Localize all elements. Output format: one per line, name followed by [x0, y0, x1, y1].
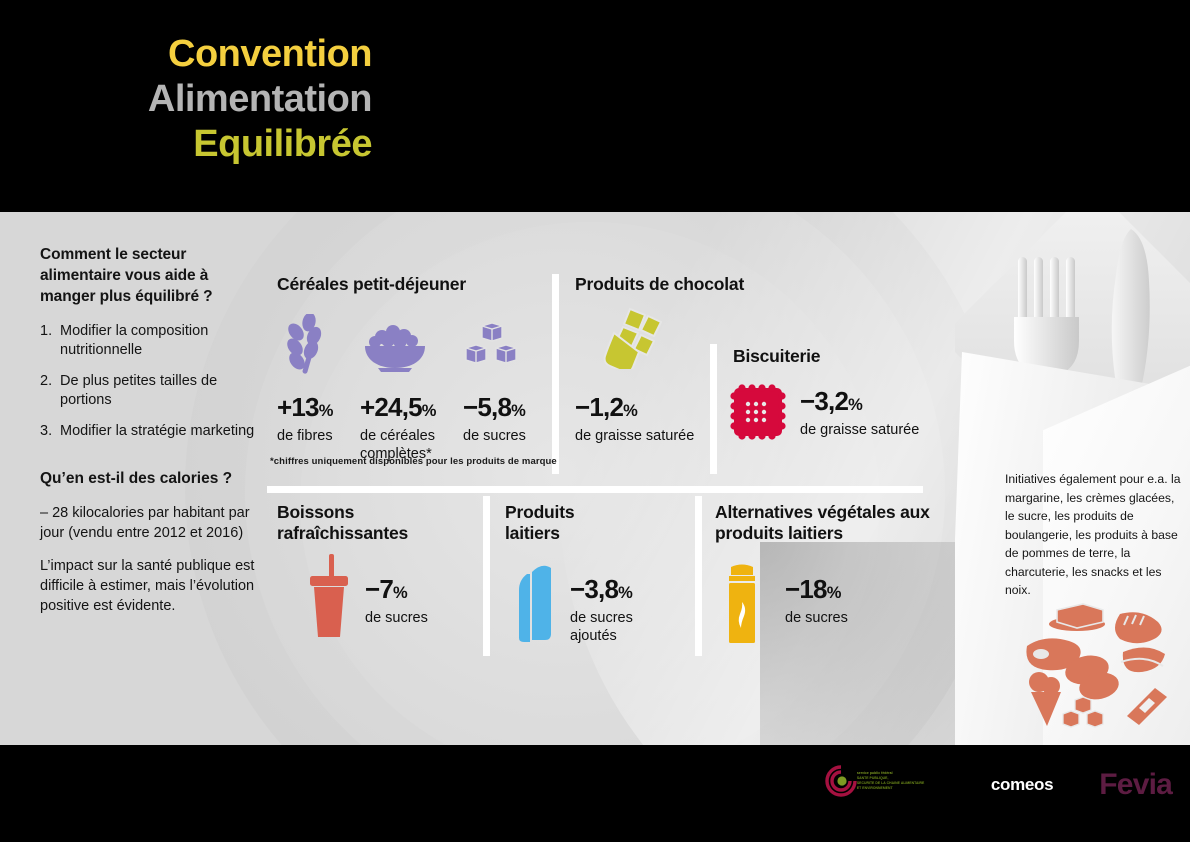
list-item: 2. De plus petites tailles de portions [40, 372, 255, 411]
stat-value: +24,5% [360, 392, 455, 423]
title-line-1: Convention [0, 34, 372, 75]
logo-belgian-government[interactable]: service public fédéral SANTE PUBLIQUE, S… [825, 765, 945, 805]
plant-drink-carton-icon [720, 564, 766, 649]
section-title-drinks: Boissons rafraîchissantes [277, 502, 467, 545]
butter-icon [1049, 604, 1105, 631]
stat-value: −3,2% [800, 386, 920, 417]
grid-divider-vertical [552, 274, 559, 474]
stat-cereals-fibre: +13% de fibres [277, 392, 333, 445]
list-item-number: 1. [40, 322, 60, 361]
list-item-number: 2. [40, 372, 60, 411]
list-item-number: 3. [40, 422, 60, 442]
list-item: 1. Modifier la composition nutritionnell… [40, 322, 255, 361]
right-sidebar: Initiatives également pour e.a. la marga… [955, 212, 1190, 745]
section-title-plant: Alternatives végétales aux produits lait… [715, 502, 945, 545]
gov-emblem-icon [825, 765, 857, 799]
left-paragraph-1: – 28 kilocalories par habitant par jour … [40, 503, 255, 543]
stat-value: −18% [785, 574, 848, 605]
stat-chocolate-fat: −1,2% de graisse saturée [575, 392, 695, 445]
stat-label: de sucres [463, 427, 526, 445]
footer-band: service public fédéral SANTE PUBLIQUE, S… [0, 745, 1190, 842]
stat-value: −5,8% [463, 392, 526, 423]
stat-cereals-wholegrain: +24,5% de céréales complètes* [360, 392, 455, 463]
stat-value: −7% [365, 574, 428, 605]
right-sidebar-text: Initiatives également pour e.a. la marga… [1005, 470, 1187, 600]
stat-label: de graisse saturée [575, 427, 695, 445]
stat-label: de sucres ajoutés [570, 609, 680, 645]
left-question-1: Comment le secteur alimentaire vous aide… [40, 245, 255, 308]
poster-title: Convention Alimentation Equilibrée [0, 34, 372, 165]
stat-label: de graisse saturée [800, 421, 920, 439]
footer-logos: service public fédéral SANTE PUBLIQUE, S… [825, 765, 1172, 805]
wheat-icon [280, 314, 338, 379]
left-sidebar: Comment le secteur alimentaire vous aide… [40, 245, 255, 616]
left-paragraph-2: L’impact sur la santé publique est diffi… [40, 556, 255, 616]
gov-line-4: ET ENVIRONNEMENT [857, 786, 945, 791]
stat-cereals-sugar: −5,8% de sucres [463, 392, 526, 445]
soft-drink-cup-icon [305, 554, 353, 644]
list-item-label: Modifier la stratégie marketing [60, 422, 254, 442]
list-item: 3. Modifier la stratégie marketing [40, 422, 255, 442]
list-item-label: Modifier la composition nutritionnelle [60, 322, 255, 361]
snack-bar-icon [1127, 688, 1167, 725]
header-band: Convention Alimentation Equilibrée [0, 0, 1190, 212]
stat-dairy-sugar: −3,8% de sucres ajoutés [570, 574, 680, 645]
stat-value: −1,2% [575, 392, 695, 423]
cereal-bowl-icon [360, 324, 430, 377]
left-question-2: Qu’en est-il des calories ? [40, 469, 255, 490]
sugar-cubes-icon [1063, 697, 1103, 727]
stat-label: de sucres [365, 609, 428, 627]
food-icon-cluster [1015, 600, 1180, 735]
grid-divider-vertical [695, 496, 702, 656]
stat-label: de sucres [785, 609, 848, 627]
list-item-label: De plus petites tailles de portions [60, 372, 255, 411]
ice-cream-icon [1029, 672, 1061, 726]
stat-value: −3,8% [570, 574, 680, 605]
stat-drinks-sugar: −7% de sucres [365, 574, 428, 627]
logo-comeos[interactable]: comeos [991, 775, 1053, 795]
title-line-3: Equilibrée [0, 124, 372, 165]
title-line-2: Alimentation [0, 79, 372, 120]
stat-label: de fibres [277, 427, 333, 445]
cereals-footnote: *chiffres uniquement disponibles pour le… [270, 456, 557, 467]
milk-carton-icon [513, 562, 561, 649]
section-title-biscuits: Biscuiterie [733, 346, 903, 367]
sugar-cubes-icon [460, 322, 522, 379]
gov-logo-text: service public fédéral SANTE PUBLIQUE, S… [857, 771, 945, 791]
section-title-chocolate: Produits de chocolat [575, 274, 795, 295]
left-numbered-list: 1. Modifier la composition nutritionnell… [40, 322, 255, 442]
bread-icon [1115, 612, 1162, 643]
grid-divider-vertical [710, 344, 717, 474]
biscuit-icon [728, 382, 788, 447]
grid-divider-vertical [483, 496, 490, 656]
section-title-cereals: Céréales petit-déjeuner [277, 274, 547, 295]
grid-divider-horizontal [267, 486, 923, 493]
stat-plant-sugar: −18% de sucres [785, 574, 848, 627]
stat-biscuits-fat: −3,2% de graisse saturée [800, 386, 920, 439]
infographic-poster: Convention Alimentation Equilibrée Comme… [0, 0, 1190, 842]
chocolate-bar-icon [590, 307, 662, 374]
section-title-dairy: Produits laitiers [505, 502, 625, 545]
logo-fevia[interactable]: Fevia [1099, 768, 1172, 802]
chips-icon [1121, 647, 1165, 672]
statistics-grid: Céréales petit-déjeuner [265, 274, 945, 682]
body-band: Comment le secteur alimentaire vous aide… [0, 212, 1190, 745]
stat-value: +13% [277, 392, 333, 423]
